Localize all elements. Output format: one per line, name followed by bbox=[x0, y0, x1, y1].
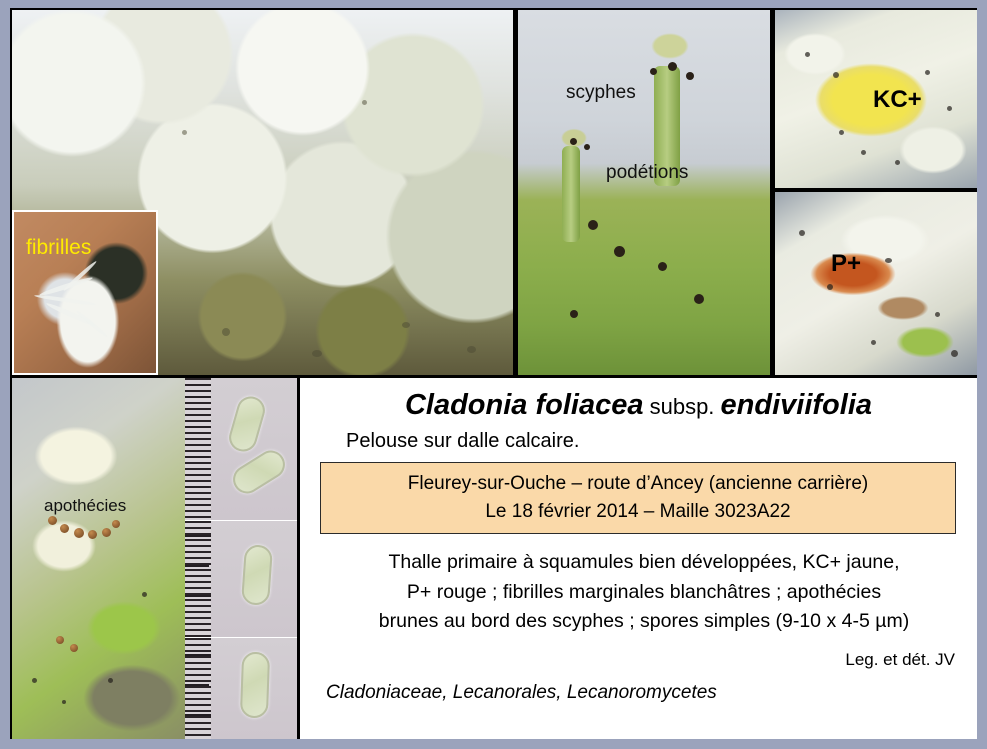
habitat-text: Pelouse sur dalle calcaire. bbox=[346, 430, 579, 453]
taxonomy-text: Cladoniaceae, Lecanorales, Lecanoromycet… bbox=[326, 682, 717, 704]
apothecies-photo: apothécies bbox=[12, 378, 185, 739]
spore-panel-2 bbox=[185, 521, 297, 638]
spore-micrographs bbox=[185, 378, 297, 739]
p-spot-test-photo: P+ bbox=[775, 192, 977, 375]
locality-box: Fleurey-sur-Ouche – route d’Ancey (ancie… bbox=[320, 462, 956, 534]
rank-abbrev: subsp. bbox=[650, 394, 715, 419]
spore-panel-1 bbox=[185, 378, 297, 521]
description-line-2: P+ rouge ; fibrilles marginales blanchât… bbox=[314, 578, 974, 608]
kc-plus-label: KC+ bbox=[873, 86, 922, 114]
description-line-1: Thalle primaire à squamules bien dévelop… bbox=[314, 548, 974, 578]
micrometer-scale-icon bbox=[185, 638, 211, 739]
podetions-label: podétions bbox=[606, 162, 688, 184]
podetia-photo: scyphes podétions bbox=[518, 10, 770, 375]
apothecies-label: apothécies bbox=[44, 496, 126, 516]
species-label-panel: Cladonia foliacea subsp. endiviifolia Pe… bbox=[300, 378, 977, 739]
kc-spot-test-photo: KC+ bbox=[775, 10, 977, 188]
spore-panel-3 bbox=[185, 638, 297, 739]
fibrilles-label: fibrilles bbox=[26, 236, 91, 260]
fibrilles-inset-photo: fibrilles bbox=[12, 210, 158, 375]
locality-line-1: Fleurey-sur-Ouche – route d’Ancey (ancie… bbox=[408, 470, 868, 498]
collector-text: Leg. et dét. JV bbox=[845, 650, 955, 670]
subspecies-epithet: endiviifolia bbox=[721, 389, 872, 421]
locality-line-2: Le 18 février 2014 – Maille 3023A22 bbox=[485, 498, 790, 526]
poster-root: fibrilles scyphes podétions KC+ bbox=[0, 0, 987, 749]
description-text: Thalle primaire à squamules bien dévelop… bbox=[314, 548, 974, 637]
genus-species: Cladonia foliacea bbox=[405, 389, 644, 421]
micrometer-scale-icon bbox=[185, 521, 211, 637]
p-plus-label: P+ bbox=[831, 250, 861, 278]
description-line-3: brunes au bord des scyphes ; spores simp… bbox=[314, 607, 974, 637]
micrometer-scale-icon bbox=[185, 378, 211, 520]
species-title: Cladonia foliacea subsp. endiviifolia bbox=[300, 390, 977, 420]
scyphes-label: scyphes bbox=[566, 82, 636, 104]
